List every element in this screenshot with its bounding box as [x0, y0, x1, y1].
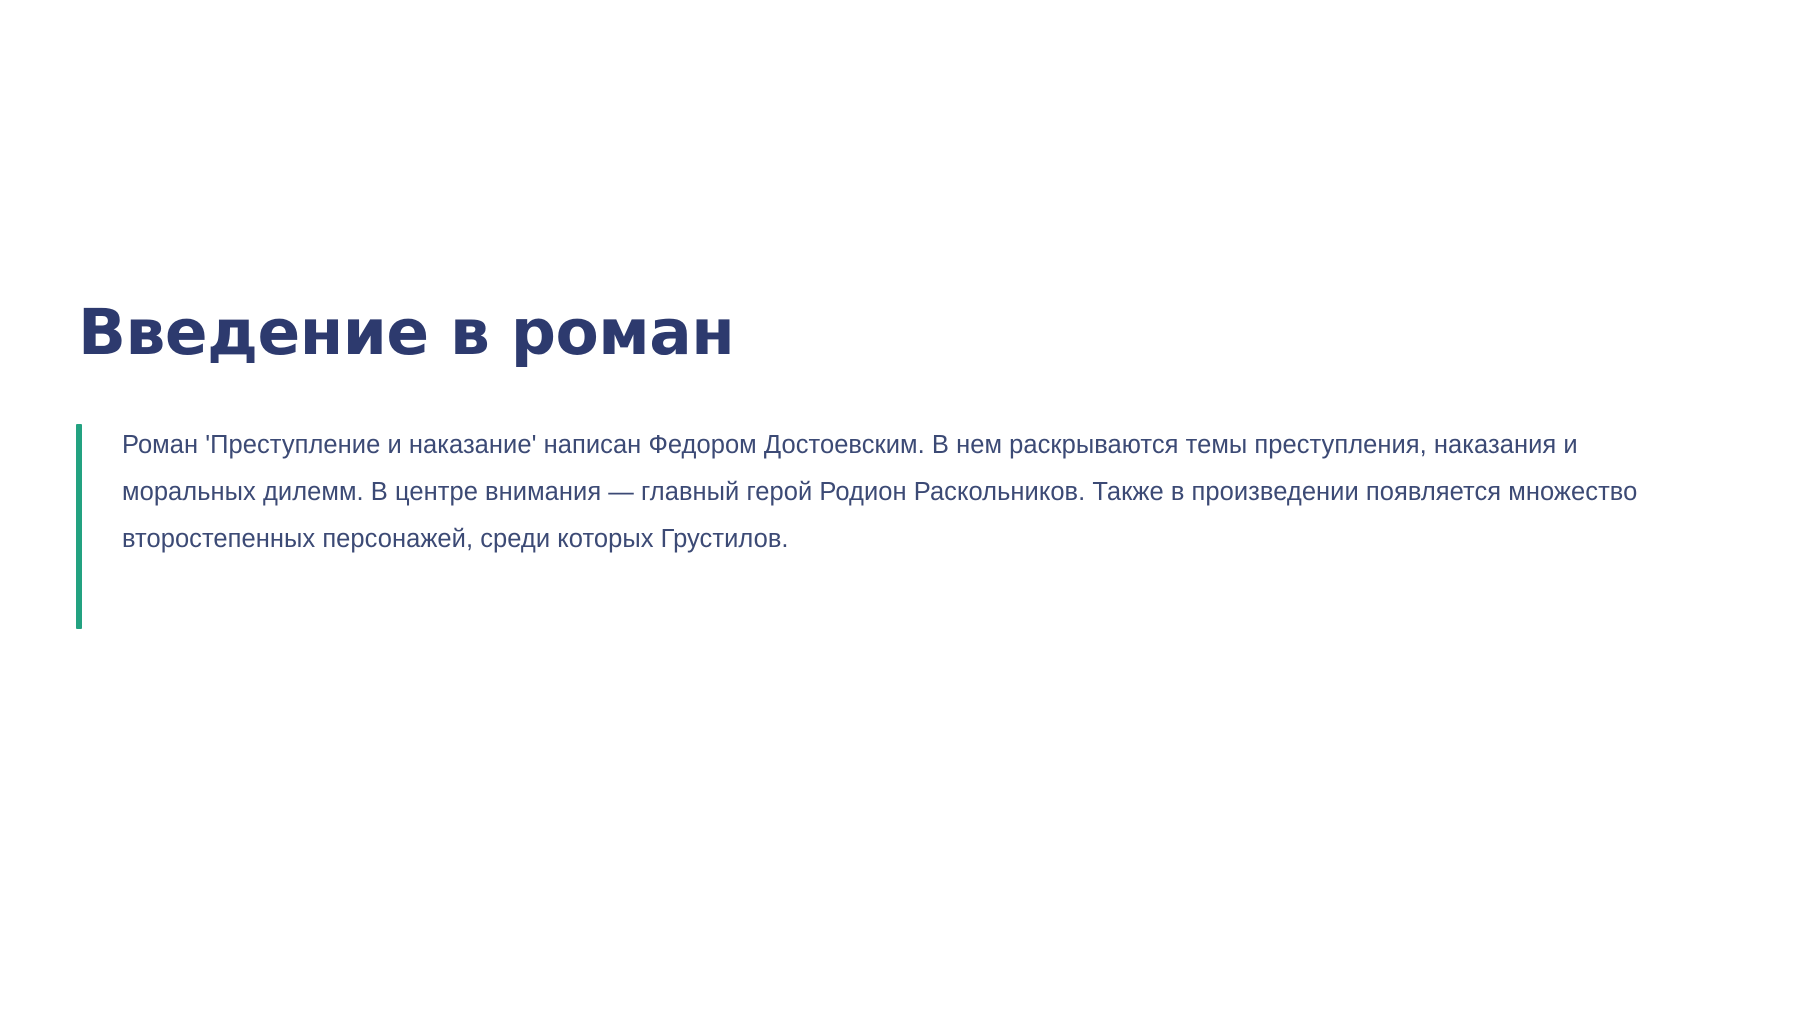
accent-bar	[76, 424, 82, 629]
content-block: Введение в роман Роман 'Преступление и н…	[76, 300, 1716, 563]
page-title: Введение в роман	[76, 300, 1716, 366]
slide-canvas: Введение в роман Роман 'Преступление и н…	[0, 0, 1800, 1013]
body-paragraph: Роман 'Преступление и наказание' написан…	[122, 422, 1716, 563]
body-block: Роман 'Преступление и наказание' написан…	[76, 422, 1716, 563]
